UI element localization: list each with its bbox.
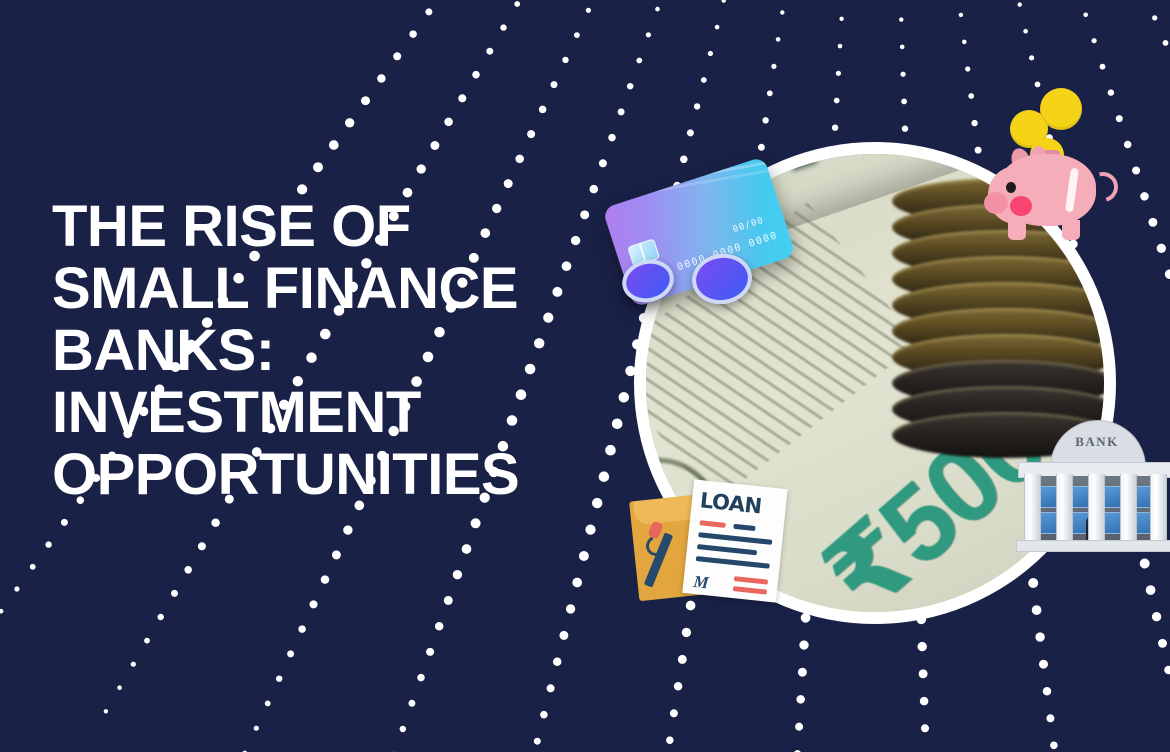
bank-column [1024, 474, 1041, 542]
coin-icon [1040, 88, 1082, 130]
piggy-eye [1006, 182, 1016, 193]
bank-column [1056, 474, 1073, 542]
signature-mark: M [692, 572, 709, 593]
bank-building-icon: BANK [1008, 420, 1170, 552]
doc-line [733, 524, 755, 531]
piggy-bank-icon [984, 88, 1124, 238]
doc-line [699, 520, 725, 528]
credit-card-illustration: 0000 0000 0000 0000 00/00 [606, 172, 796, 302]
bank-column [1120, 474, 1137, 542]
bank-base [1016, 540, 1170, 552]
loan-title: LOAN [699, 488, 763, 518]
doc-line [697, 544, 757, 555]
bank-column [1088, 474, 1105, 542]
loan-paper: LOAN M [682, 479, 787, 602]
piggy-snout [984, 192, 1008, 214]
doc-line [696, 556, 770, 569]
bank-column [1150, 474, 1167, 542]
loan-document-icon: LOAN M [634, 484, 794, 606]
doc-line [734, 576, 768, 585]
doc-line [698, 532, 772, 545]
doc-line [733, 586, 767, 595]
piggy-cheek [1010, 196, 1032, 216]
poster-canvas: The Rise of Small Finance Banks: Investm… [0, 0, 1170, 752]
page-title: The Rise of Small Finance Banks: Investm… [52, 196, 582, 506]
bank-label: BANK [1050, 434, 1144, 450]
